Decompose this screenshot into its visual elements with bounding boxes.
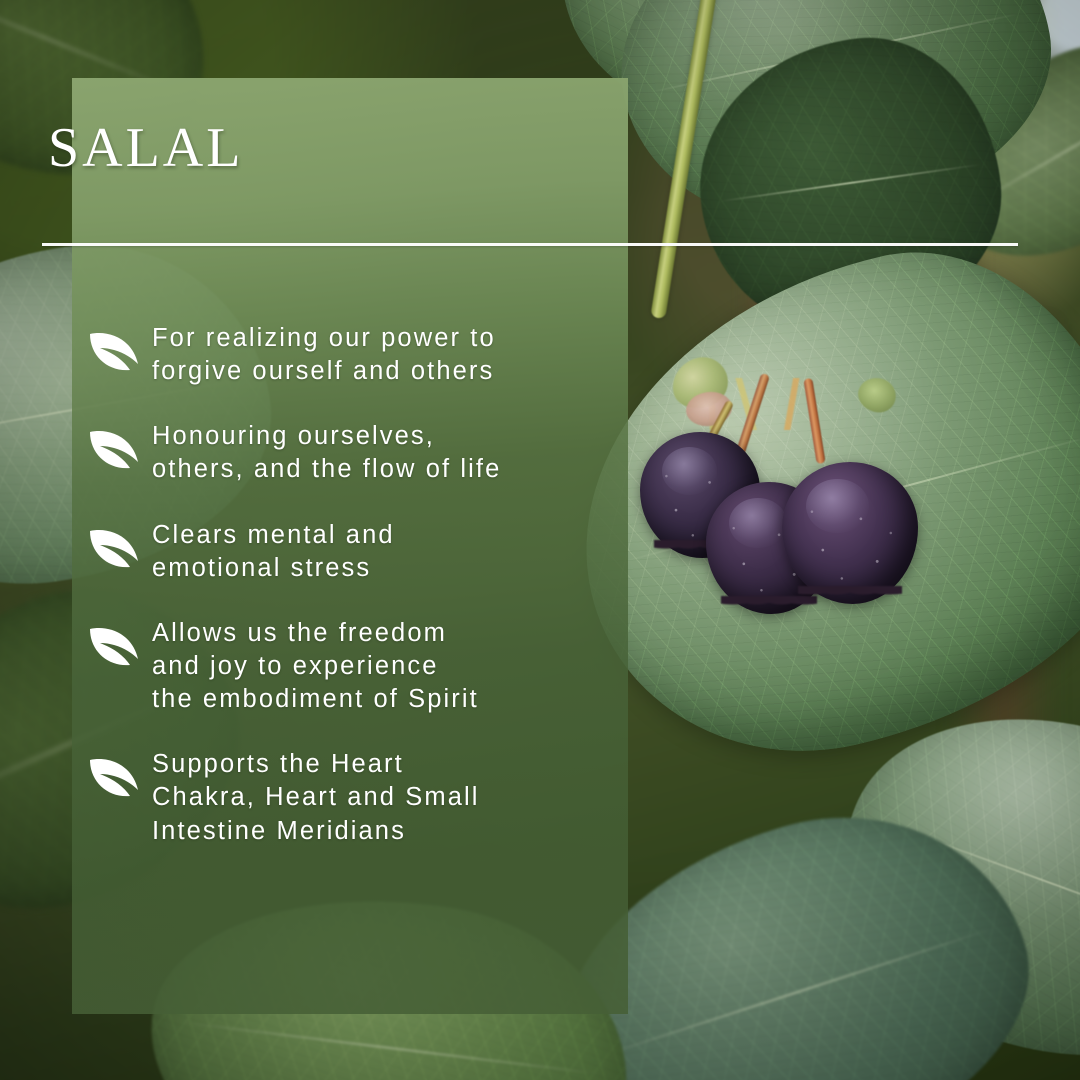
leaf-icon: [88, 328, 140, 372]
list-item: Honouring ourselves, others, and the flo…: [88, 420, 633, 486]
list-item: Clears mental and emotional stress: [88, 519, 633, 585]
title-divider: [42, 243, 1018, 246]
list-item-text: Clears mental and emotional stress: [152, 519, 395, 585]
list-item: For realizing our power to forgive ourse…: [88, 322, 633, 388]
list-item: Allows us the freedom and joy to experie…: [88, 617, 633, 716]
list-item-text: Supports the Heart Chakra, Heart and Sma…: [152, 748, 480, 847]
leaf-icon: [88, 426, 140, 470]
list-item: Supports the Heart Chakra, Heart and Sma…: [88, 748, 633, 847]
salal-info-card: SALAL For realizing our power to forgive…: [0, 0, 1080, 1080]
benefits-list: For realizing our power to forgive ourse…: [88, 322, 633, 848]
list-item-text: Honouring ourselves, others, and the flo…: [152, 420, 501, 486]
page-title: SALAL: [48, 120, 243, 176]
leaf-icon: [88, 525, 140, 569]
leaf-icon: [88, 754, 140, 798]
list-item-text: For realizing our power to forgive ourse…: [152, 322, 496, 388]
list-item-text: Allows us the freedom and joy to experie…: [152, 617, 479, 716]
leaf-icon: [88, 623, 140, 667]
